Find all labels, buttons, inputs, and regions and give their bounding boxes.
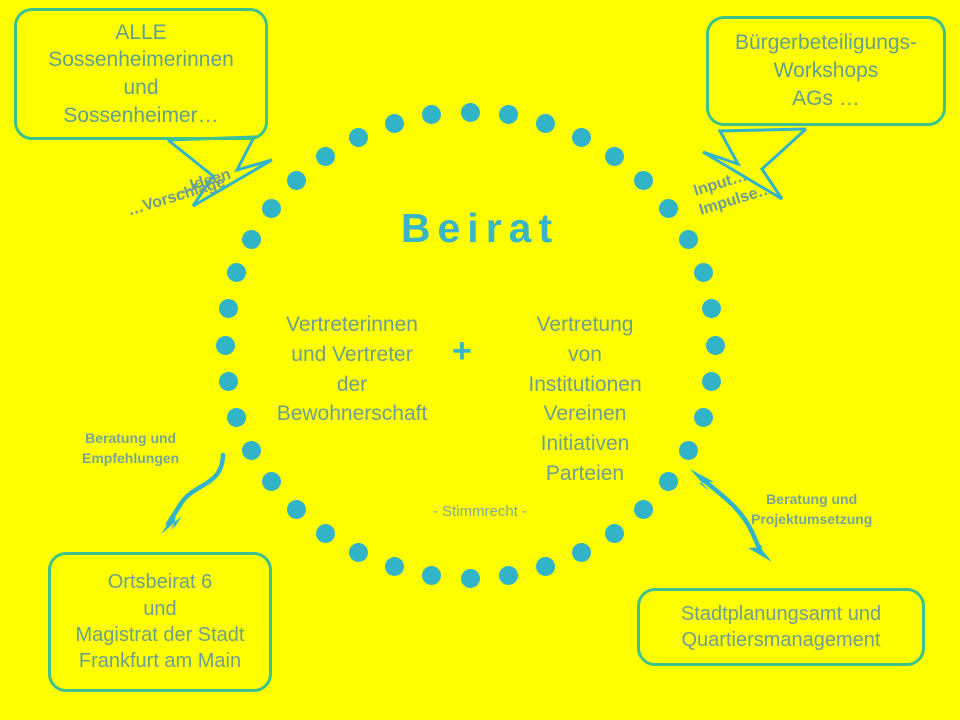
- ring-dot: [536, 114, 555, 133]
- box-ortsbeirat-line-1: Ortsbeirat 6: [108, 569, 212, 595]
- ring-dot: [227, 263, 246, 282]
- ring-dot: [572, 128, 591, 147]
- ring-dot: [385, 114, 404, 133]
- ring-dot: [461, 569, 480, 588]
- residents-line-4: Bewohnerschaft: [262, 399, 442, 429]
- ring-dot: [349, 543, 368, 562]
- ring-dot: [385, 557, 404, 576]
- box-stadtplanung-line-2: Quartiersmanagement: [682, 627, 881, 653]
- council-institutions-column: Vertretung von Institutionen Vereinen In…: [496, 310, 674, 489]
- ring-dot: [694, 408, 713, 427]
- residents-line-1: Vertreterinnen: [262, 310, 442, 340]
- residents-line-2: und Vertreter: [262, 340, 442, 370]
- speech-bubble-workshops: Bürgerbeteiligungs- Workshops AGs …: [706, 16, 946, 126]
- institutions-line-6: Parteien: [496, 459, 674, 489]
- ring-dot: [262, 472, 281, 491]
- ring-dot: [219, 372, 238, 391]
- bubble-residents-line-4: Sossenheimer…: [63, 102, 218, 130]
- box-stadtplanung-line-1: Stadtplanungsamt und: [681, 601, 881, 627]
- ring-dot: [216, 336, 235, 355]
- ring-dot: [422, 105, 441, 124]
- council-residents-column: Vertreterinnen und Vertreter der Bewohne…: [262, 310, 442, 429]
- ring-dot: [316, 524, 335, 543]
- beirat-title: Beirat: [0, 205, 960, 252]
- ring-dot: [219, 299, 238, 318]
- box-ortsbeirat-line-4: Frankfurt am Main: [79, 648, 241, 674]
- label-beratung-empfehlungen: Beratung und Empfehlungen: [82, 428, 179, 469]
- bubble-workshops-line-3: AGs …: [792, 85, 860, 113]
- plus-icon: +: [452, 334, 472, 368]
- ring-dot: [287, 171, 306, 190]
- ring-dot: [702, 372, 721, 391]
- ring-dot: [572, 543, 591, 562]
- label-beratung-projektumsetzung-line-1: Beratung und: [751, 489, 872, 509]
- ring-dot: [634, 171, 653, 190]
- bubble-workshops-line-2: Workshops: [774, 57, 879, 85]
- institutions-line-4: Vereinen: [496, 399, 674, 429]
- ring-dot: [242, 441, 261, 460]
- bubble-residents-line-1: ALLE: [115, 19, 166, 47]
- ring-dot: [422, 566, 441, 585]
- label-beratung-projektumsetzung: Beratung und Projektumsetzung: [751, 489, 872, 530]
- ring-dot: [706, 336, 725, 355]
- bubble-residents-line-3: und: [123, 74, 158, 102]
- ring-dot: [499, 105, 518, 124]
- speech-bubble-residents: ALLE Sossenheimerinnen und Sossenheimer…: [14, 8, 268, 140]
- institutions-line-1: Vertretung: [496, 310, 674, 340]
- bubble-residents-line-2: Sossenheimerinnen: [48, 46, 234, 74]
- ring-dot: [702, 299, 721, 318]
- residents-line-3: der: [262, 370, 442, 400]
- institutions-line-2: von: [496, 340, 674, 370]
- ring-dot: [536, 557, 555, 576]
- ring-dot: [461, 103, 480, 122]
- box-ortsbeirat-line-2: und: [143, 596, 176, 622]
- diagram-canvas: ALLE Sossenheimerinnen und Sossenheimer……: [0, 0, 960, 720]
- ring-dot: [349, 128, 368, 147]
- box-ortsbeirat: Ortsbeirat 6 und Magistrat der Stadt Fra…: [48, 552, 272, 692]
- ring-dot: [499, 566, 518, 585]
- institutions-line-3: Institutionen: [496, 370, 674, 400]
- ring-dot: [605, 524, 624, 543]
- bubble-workshops-line-1: Bürgerbeteiligungs-: [735, 29, 917, 57]
- box-ortsbeirat-line-3: Magistrat der Stadt: [76, 622, 245, 648]
- ring-dot: [679, 441, 698, 460]
- ring-dot: [316, 147, 335, 166]
- institutions-line-5: Initiativen: [496, 429, 674, 459]
- label-beratung-projektumsetzung-line-2: Projektumsetzung: [751, 509, 872, 529]
- label-beratung-empfehlungen-line-1: Beratung und: [82, 428, 179, 448]
- label-beratung-empfehlungen-line-2: Empfehlungen: [82, 448, 179, 468]
- ring-dot: [694, 263, 713, 282]
- ring-dot: [227, 408, 246, 427]
- box-stadtplanung: Stadtplanungsamt und Quartiersmanagement: [637, 588, 925, 666]
- ring-dot: [605, 147, 624, 166]
